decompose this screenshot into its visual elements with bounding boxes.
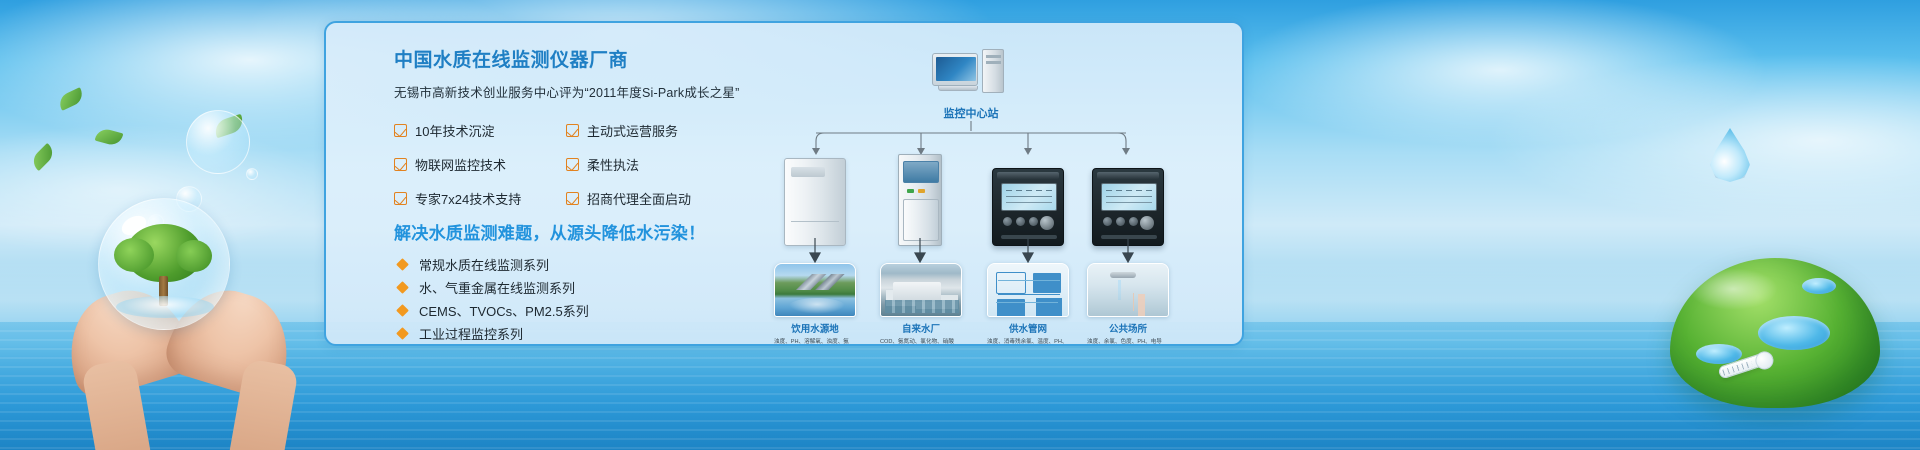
application-cards: 饮用水源地 浊度、PH、溶解氧、浊度、氨氮、COD、叶绿素、蓝绿藻、生物毒性等。… [746, 263, 1244, 346]
globe-highlight [1688, 268, 1778, 310]
monitor-base [938, 86, 978, 91]
analyzer-icon [1092, 168, 1164, 246]
product-series-list: 常规水质在线监测系列 水、气重金属在线监测系列 CEMS、TVOCs、PM2.5… [398, 253, 589, 345]
water-droplet-icon [1710, 128, 1750, 182]
leaf-icon [29, 143, 57, 171]
rack-icon [898, 154, 942, 246]
downward-arrow-icons [746, 238, 1244, 264]
monitoring-center-computer-icon [932, 49, 1008, 97]
card-image [774, 263, 856, 317]
analyzer-screen [1001, 183, 1057, 211]
checkbox-checked-icon [566, 192, 579, 205]
river-landscape-image [775, 264, 855, 316]
checkbox-checked-icon [394, 124, 407, 137]
status-led-amber [918, 189, 925, 193]
section-heading: 解决水质监测难题，从源头降低水污染！ [394, 219, 705, 244]
analyzer-top-bar [1097, 172, 1159, 179]
water-pool [116, 296, 214, 318]
card-drinking-water-source[interactable]: 饮用水源地 浊度、PH、溶解氧、浊度、氨氮、COD、叶绿素、蓝绿藻、生物毒性等。 [774, 263, 856, 346]
card-description: COD、氨氮动、氯化物、硝酸盐、氨氮、硝酸盐、钚、锰、生物毒性等。 [880, 338, 964, 346]
feature-label: 专家7x24技术支持 [415, 189, 521, 208]
rack-display [903, 161, 939, 183]
diamond-bullet-icon [396, 327, 409, 340]
device-rack-station[interactable] [898, 154, 942, 246]
card-description: 浊度、余氯、色度、PH、电导率。 [1087, 338, 1171, 346]
feature-item[interactable]: 专家7x24技术支持 [394, 189, 566, 208]
card-image [987, 263, 1069, 317]
tree-canopy-icon [126, 224, 202, 282]
list-item-label: CEMS、TVOCs、PM2.5系列 [419, 301, 589, 320]
feature-item[interactable]: 物联网监控技术 [394, 155, 566, 174]
pipe-network-diagram-image [988, 264, 1068, 316]
diamond-bullet-icon [396, 258, 409, 271]
tap-washing-hands-image [1088, 264, 1168, 316]
monitor-icon [932, 53, 978, 86]
globe-lake [1802, 278, 1836, 294]
card-title: 供水管网 [987, 321, 1069, 335]
water-plant-image [881, 264, 961, 316]
analyzer-button [1029, 217, 1038, 226]
list-item-label: 常规水质在线监测系列 [419, 255, 549, 274]
banner-subtitle: 无锡市高新技术创业服务中心评为“2011年度Si-Park成长之星” [394, 82, 764, 101]
feature-label: 招商代理全面启动 [587, 189, 691, 208]
feature-label: 主动式运营服务 [587, 121, 678, 140]
feature-label: 柔性执法 [587, 155, 639, 174]
checkbox-checked-icon [566, 124, 579, 137]
hands-holding-tree-illustration [60, 180, 330, 450]
feature-item[interactable]: 主动式运营服务 [566, 121, 766, 140]
analyzer-button [1016, 217, 1025, 226]
card-title: 饮用水源地 [774, 321, 856, 335]
card-water-supply-network[interactable]: 供水管网 浊度、消毒残余氯、温度、PH、氯氮、亚硝酸盐、电导率、压力、流量等。 [987, 263, 1069, 346]
checkbox-checked-icon [394, 192, 407, 205]
rack-door [903, 199, 939, 241]
card-title: 公共场所 [1087, 321, 1169, 335]
monitoring-center-label: 监控中心站 [896, 105, 1046, 121]
bubble-icon [246, 168, 258, 180]
checkbox-checked-icon [394, 158, 407, 171]
page-title: 中国水质在线监测仪器厂商 [394, 45, 764, 72]
device-cabinet-station[interactable] [784, 158, 846, 246]
analyzer-button [1129, 217, 1138, 226]
analyzer-button [1103, 217, 1112, 226]
feature-item[interactable]: 10年技术沉淀 [394, 121, 566, 140]
monitoring-network-diagram: 监控中心站 [746, 33, 1244, 346]
list-item[interactable]: 常规水质在线监测系列 [398, 253, 589, 276]
cabinet-icon [784, 158, 846, 246]
feature-label: 10年技术沉淀 [415, 121, 494, 140]
analyzer-knob [1140, 216, 1154, 230]
list-item[interactable]: 工业过程监控系列 [398, 322, 589, 345]
diamond-bullet-icon [396, 304, 409, 317]
device-analyzer-station-2[interactable] [1092, 168, 1164, 246]
list-item-label: 水、气重金属在线监测系列 [419, 278, 575, 297]
analyzer-icon [992, 168, 1064, 246]
card-title: 自来水厂 [880, 321, 962, 335]
banner-text-column: 中国水质在线监测仪器厂商 无锡市高新技术创业服务中心评为“2011年度Si-Pa… [394, 45, 764, 101]
card-public-places[interactable]: 公共场所 浊度、余氯、色度、PH、电导率。 [1087, 263, 1169, 346]
leaf-icon [95, 127, 124, 147]
feature-item[interactable]: 柔性执法 [566, 155, 766, 174]
feature-item[interactable]: 招商代理全面启动 [566, 189, 766, 208]
analyzer-top-bar [997, 172, 1059, 179]
bubble-icon [186, 110, 250, 174]
leaf-icon [56, 87, 85, 111]
list-item[interactable]: CEMS、TVOCs、PM2.5系列 [398, 299, 589, 322]
pc-tower-icon [982, 49, 1004, 93]
card-description: 浊度、消毒残余氯、温度、PH、氯氮、亚硝酸盐、电导率、压力、流量等。 [987, 338, 1071, 346]
checkbox-checked-icon [566, 158, 579, 171]
card-image [880, 263, 962, 317]
main-banner-panel: 中国水质在线监测仪器厂商 无锡市高新技术创业服务中心评为“2011年度Si-Pa… [324, 21, 1244, 346]
card-description: 浊度、PH、溶解氧、浊度、氨氮、COD、叶绿素、蓝绿藻、生物毒性等。 [774, 338, 858, 346]
analyzer-button [1116, 217, 1125, 226]
card-image [1087, 263, 1169, 317]
feature-checklist: 10年技术沉淀 主动式运营服务 物联网监控技术 柔性执法 专家7x24技术支持 … [394, 121, 766, 208]
globe-lake [1758, 316, 1830, 350]
card-water-plant[interactable]: 自来水厂 COD、氨氮动、氯化物、硝酸盐、氨氮、硝酸盐、钚、锰、生物毒性等。 [880, 263, 962, 346]
device-row [746, 151, 1244, 246]
analyzer-screen [1101, 183, 1157, 211]
diamond-bullet-icon [396, 281, 409, 294]
monitor-screen [936, 57, 976, 81]
analyzer-buttons [1103, 217, 1138, 226]
analyzer-button [1003, 217, 1012, 226]
status-led-green [907, 189, 914, 193]
analyzer-buttons [1003, 217, 1038, 226]
device-analyzer-station-1[interactable] [992, 168, 1064, 246]
feature-label: 物联网监控技术 [415, 155, 506, 174]
list-item[interactable]: 水、气重金属在线监测系列 [398, 276, 589, 299]
list-item-label: 工业过程监控系列 [419, 324, 523, 343]
analyzer-knob [1040, 216, 1054, 230]
connector-lines [746, 121, 1244, 155]
